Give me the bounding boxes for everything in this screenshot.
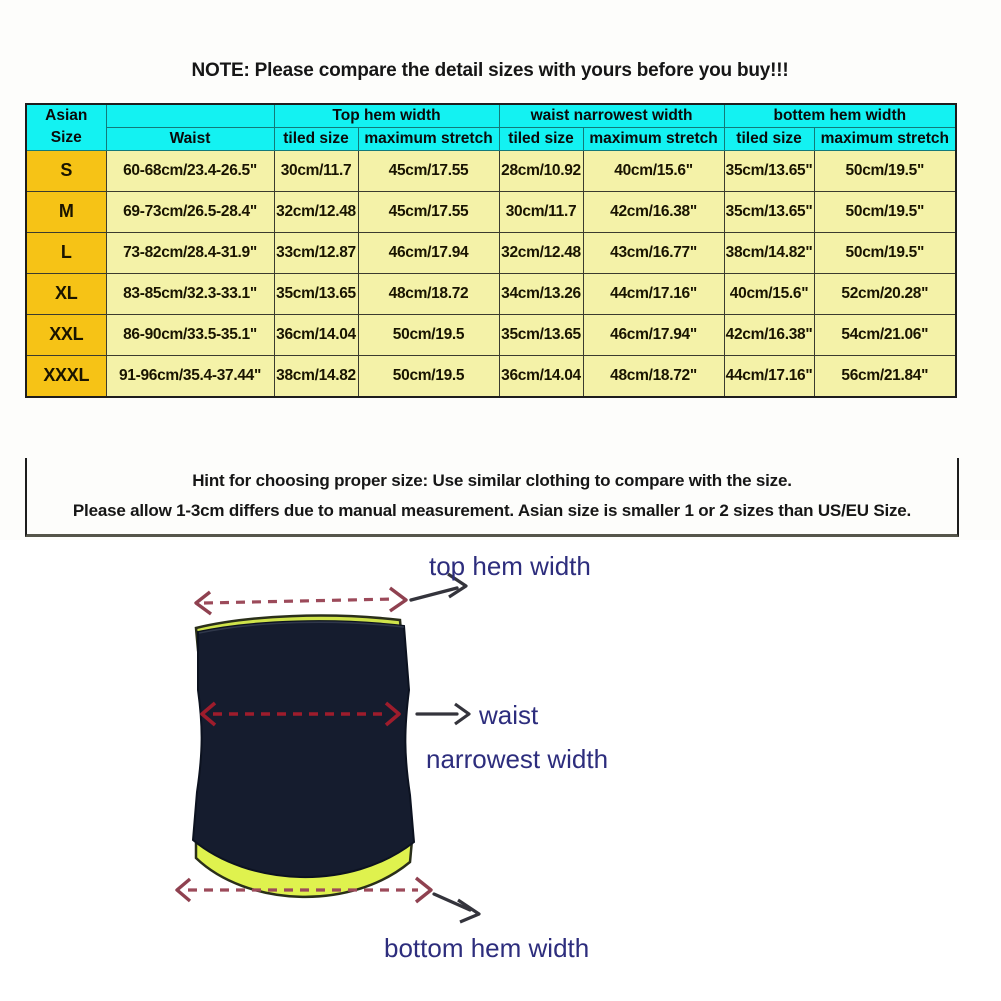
cell-waist-stretch: 44cm/17.16" <box>583 273 724 314</box>
cell-bottom-tiled: 35cm/13.65" <box>724 191 814 232</box>
cell-bottom-stretch: 52cm/20.28" <box>814 273 956 314</box>
cell-bottom-tiled: 44cm/17.16" <box>724 355 814 397</box>
note-text: NOTE: Please compare the detail sizes wi… <box>25 60 955 82</box>
cell-top-stretch: 45cm/17.55 <box>358 150 499 191</box>
cell-size: XL <box>26 273 106 314</box>
measurement-diagram-section: top hem width waist narrowest width bott… <box>0 540 1001 1001</box>
waist-pointer <box>417 704 469 724</box>
cell-waist-stretch: 46cm/17.94" <box>583 314 724 355</box>
bottom-hem-pointer <box>434 894 479 922</box>
column-header-bottom-tiled: tiled size <box>724 128 814 151</box>
cell-waist-tiled: 28cm/10.92 <box>499 150 583 191</box>
cell-waist-stretch: 40cm/15.6" <box>583 150 724 191</box>
column-header-waist-tiled: tiled size <box>499 128 583 151</box>
cell-size: M <box>26 191 106 232</box>
cell-size: XXXL <box>26 355 106 397</box>
column-header-asian-size: Asian Size <box>26 104 106 150</box>
cell-size: XXL <box>26 314 106 355</box>
cell-size: L <box>26 232 106 273</box>
cell-waist-stretch: 43cm/16.77" <box>583 232 724 273</box>
hint-line-2: Please allow 1-3cm differs due to manual… <box>73 496 911 526</box>
cell-bottom-stretch: 56cm/21.84" <box>814 355 956 397</box>
table-header-row-groups: Asian Size Top hem width waist narrowest… <box>26 104 956 128</box>
cell-bottom-tiled: 42cm/16.38" <box>724 314 814 355</box>
size-table: Asian Size Top hem width waist narrowest… <box>25 103 957 398</box>
cell-waist-stretch: 42cm/16.38" <box>583 191 724 232</box>
cell-top-tiled: 38cm/14.82 <box>274 355 358 397</box>
cell-bottom-stretch: 50cm/19.5" <box>814 191 956 232</box>
cell-waist: 83-85cm/32.3-33.1" <box>106 273 274 314</box>
cell-bottom-tiled: 38cm/14.82" <box>724 232 814 273</box>
label-waist: waist <box>478 700 539 730</box>
cell-top-stretch: 50cm/19.5 <box>358 355 499 397</box>
cell-top-stretch: 48cm/18.72 <box>358 273 499 314</box>
garment-body <box>193 621 414 877</box>
asian-size-line-1: Asian <box>27 105 106 127</box>
cell-top-stretch: 50cm/19.5 <box>358 314 499 355</box>
cell-bottom-stretch: 54cm/21.06" <box>814 314 956 355</box>
cell-waist-stretch: 48cm/18.72" <box>583 355 724 397</box>
cell-waist-tiled: 35cm/13.65 <box>499 314 583 355</box>
table-header: Asian Size Top hem width waist narrowest… <box>26 104 956 150</box>
cell-bottom-stretch: 50cm/19.5" <box>814 150 956 191</box>
column-header-bottom-stretch: maximum stretch <box>814 128 956 151</box>
waist-trainer-illustration <box>193 616 414 897</box>
table-body: S60-68cm/23.4-26.5"30cm/11.745cm/17.5528… <box>26 150 956 397</box>
cell-top-tiled: 35cm/13.65 <box>274 273 358 314</box>
cell-bottom-tiled: 35cm/13.65" <box>724 150 814 191</box>
hint-line-1: Hint for choosing proper size: Use simil… <box>192 466 792 496</box>
cell-top-tiled: 32cm/12.48 <box>274 191 358 232</box>
measurement-diagram: top hem width waist narrowest width bott… <box>0 540 1001 1001</box>
cell-waist: 91-96cm/35.4-37.44" <box>106 355 274 397</box>
hint-box: Hint for choosing proper size: Use simil… <box>25 458 959 537</box>
cell-waist-tiled: 36cm/14.04 <box>499 355 583 397</box>
column-header-waist: Waist <box>106 128 274 151</box>
column-header-top-stretch: maximum stretch <box>358 128 499 151</box>
cell-top-stretch: 46cm/17.94 <box>358 232 499 273</box>
cell-waist-tiled: 32cm/12.48 <box>499 232 583 273</box>
cell-waist: 69-73cm/26.5-28.4" <box>106 191 274 232</box>
column-header-top-tiled: tiled size <box>274 128 358 151</box>
cell-waist-tiled: 34cm/13.26 <box>499 273 583 314</box>
table-row: M69-73cm/26.5-28.4"32cm/12.4845cm/17.553… <box>26 191 956 232</box>
table-row: XXXL91-96cm/35.4-37.44"38cm/14.8250cm/19… <box>26 355 956 397</box>
cell-top-stretch: 45cm/17.55 <box>358 191 499 232</box>
cell-top-tiled: 33cm/12.87 <box>274 232 358 273</box>
cell-waist: 86-90cm/33.5-35.1" <box>106 314 274 355</box>
size-chart-section: NOTE: Please compare the detail sizes wi… <box>0 0 1001 545</box>
column-header-group-bottom-hem: bottem hem width <box>724 104 956 128</box>
cell-waist: 73-82cm/28.4-31.9" <box>106 232 274 273</box>
cell-waist: 60-68cm/23.4-26.5" <box>106 150 274 191</box>
cell-top-tiled: 30cm/11.7 <box>274 150 358 191</box>
column-header-blank <box>106 104 274 128</box>
top-hem-measure-arrow <box>196 588 406 614</box>
column-header-group-top-hem: Top hem width <box>274 104 499 128</box>
label-top-hem-width: top hem width <box>429 551 591 581</box>
cell-bottom-stretch: 50cm/19.5" <box>814 232 956 273</box>
cell-size: S <box>26 150 106 191</box>
cell-bottom-tiled: 40cm/15.6" <box>724 273 814 314</box>
table-row: XXL86-90cm/33.5-35.1"36cm/14.0450cm/19.5… <box>26 314 956 355</box>
label-bottom-hem-width: bottom hem width <box>384 933 589 963</box>
table-row: S60-68cm/23.4-26.5"30cm/11.745cm/17.5528… <box>26 150 956 191</box>
table-row: L73-82cm/28.4-31.9"33cm/12.8746cm/17.943… <box>26 232 956 273</box>
column-header-group-waist-narrowest: waist narrowest width <box>499 104 724 128</box>
table-header-row-subs: Waist tiled size maximum stretch tiled s… <box>26 128 956 151</box>
asian-size-line-2: Size <box>27 127 106 149</box>
cell-top-tiled: 36cm/14.04 <box>274 314 358 355</box>
table-row: XL83-85cm/32.3-33.1"35cm/13.6548cm/18.72… <box>26 273 956 314</box>
cell-waist-tiled: 30cm/11.7 <box>499 191 583 232</box>
label-waist-narrowest-width: narrowest width <box>426 744 608 774</box>
column-header-waist-stretch: maximum stretch <box>583 128 724 151</box>
